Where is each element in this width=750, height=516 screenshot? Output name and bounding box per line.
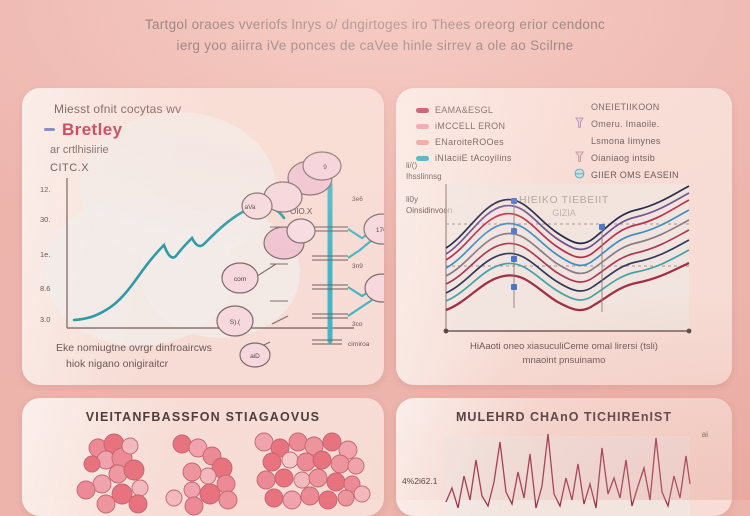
panel-cell-clusters[interactable]: VIEITANFBASSFON STIAGAOVUS: [22, 398, 384, 516]
panel2-caption-line-2: mnaoint pnsuinamo: [414, 354, 714, 368]
panel1-caption: Eke nomiugtne ovrgr dinfroaircws hiok ni…: [56, 340, 356, 372]
node-pct-2: 3n9: [352, 263, 363, 270]
panel4-signal-chart[interactable]: [396, 398, 732, 516]
panel2-caption-line-1: HiAaoti oneo xiasuculiCeme omal lirersi …: [414, 340, 714, 354]
node-pct-5: 3co: [352, 321, 363, 328]
panel1-caption-line-2: hiok nigano onigiraitcr: [56, 356, 356, 372]
node-label-3: com: [234, 276, 246, 283]
node-pct-1: 3e6: [352, 196, 363, 203]
panel-noisy-signal-chart[interactable]: MULEHRD CHAnO TICHIREnIST ai 4%2i62.1: [396, 398, 732, 516]
panel1-caption-line-1: Eke nomiugtne ovrgr dinfroaircws: [56, 340, 356, 356]
page-title-line-1: Tartgol oraoes vveriofs lnrys o/ dngirto…: [60, 14, 690, 35]
node-label-2: 17O: [376, 227, 384, 234]
cell-cluster-left: [77, 434, 148, 513]
x-axis-end-dot: [687, 329, 692, 334]
page-title-line-2: ierg yoo aiirra iVe ponces de caVee hinl…: [60, 35, 690, 56]
panel-multiseries-chart[interactable]: EAMA&ESGL iMCCELL ERON ENaroiteROOes iNI…: [396, 88, 732, 385]
cell-cluster-center: [166, 435, 237, 515]
node-label-1: 9: [323, 164, 327, 171]
page-title: Tartgol oraoes vveriofs lnrys o/ dngirto…: [60, 14, 690, 56]
x-axis-start-dot: [444, 329, 449, 334]
node-branches: [348, 229, 374, 316]
cell-cluster-right: [255, 433, 370, 509]
plot-background: [444, 436, 690, 516]
node-bubbles: [217, 152, 384, 367]
panel2-caption: HiAaoti oneo xiasuculiCeme omal lirersi …: [414, 340, 714, 368]
panel3-cell-scatter[interactable]: [22, 398, 384, 516]
node-label-4: S).(: [230, 319, 241, 326]
panel-trend-overview[interactable]: Miesst ofnit cocytas wv Bretley ar crtlh…: [22, 88, 384, 385]
node-label-0: aVa: [244, 204, 255, 211]
